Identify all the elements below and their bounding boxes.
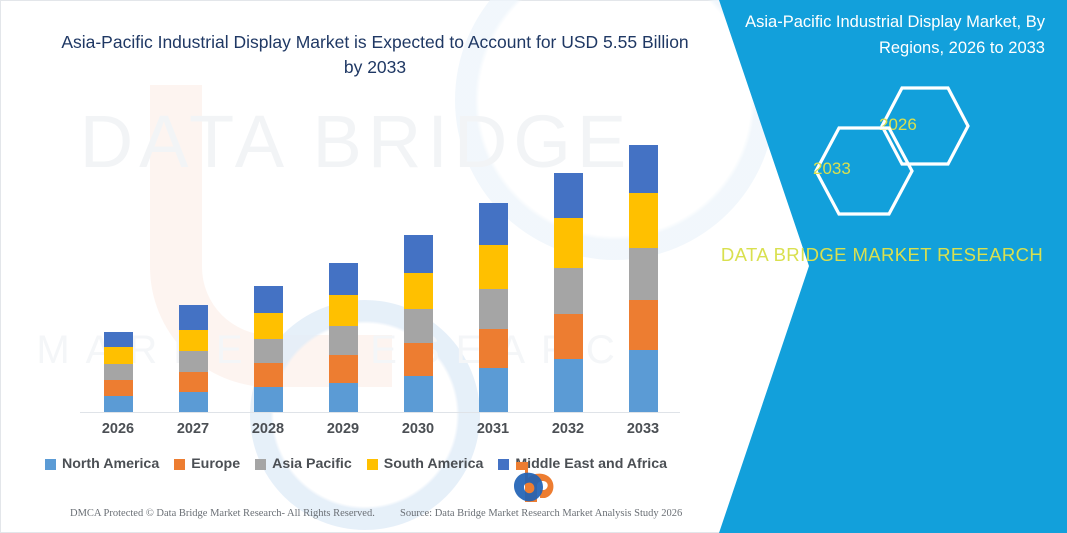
bar-segment <box>329 383 358 412</box>
x-tick-2032: 2032 <box>538 421 598 437</box>
bar-segment <box>329 326 358 355</box>
logo-sub-text: MARKET RESEARCH <box>572 490 696 497</box>
footer: DMCA Protected © Data Bridge Market Rese… <box>0 508 712 528</box>
chart-baseline <box>80 412 680 413</box>
bar-segment <box>104 380 133 396</box>
bar-segment <box>179 351 208 372</box>
bar-segment <box>404 376 433 412</box>
hexagon-group: 2026 2033 <box>697 85 1067 205</box>
bar-segment <box>404 273 433 309</box>
bar-segment <box>404 235 433 273</box>
bar-2030 <box>404 235 433 412</box>
x-tick-2030: 2030 <box>388 421 448 437</box>
bar-2028 <box>254 286 283 412</box>
bar-segment <box>479 329 508 368</box>
infographic-canvas: DATA BRIDGE MARKET RESEARCH Asia-Pacific… <box>0 0 1067 533</box>
legend-item-south-america[interactable]: South America <box>367 456 484 472</box>
bar-segment <box>554 314 583 359</box>
legend-label: South America <box>384 456 484 472</box>
bar-segment <box>329 263 358 295</box>
bar-segment <box>104 364 133 380</box>
bar-segment <box>554 359 583 412</box>
x-tick-2031: 2031 <box>463 421 523 437</box>
legend-item-north-america[interactable]: North America <box>45 456 159 472</box>
bar-segment <box>104 396 133 412</box>
bar-segment <box>554 268 583 314</box>
panel-title: Asia-Pacific Industrial Display Market, … <box>725 10 1045 61</box>
bar-2031 <box>479 203 508 412</box>
x-tick-2028: 2028 <box>238 421 298 437</box>
legend-swatch-icon <box>367 459 378 470</box>
bar-segment <box>179 392 208 412</box>
bar-segment <box>329 295 358 326</box>
bar-segment <box>629 350 658 412</box>
legend-swatch-icon <box>45 459 56 470</box>
bar-segment <box>104 347 133 364</box>
bar-segment <box>254 363 283 387</box>
legend-label: Asia Pacific <box>272 456 352 472</box>
logo-mark-icon <box>510 458 568 508</box>
bar-segment <box>554 173 583 218</box>
bar-2033 <box>629 145 658 412</box>
right-panel: Asia-Pacific Industrial Display Market, … <box>697 0 1067 533</box>
bar-segment <box>554 218 583 268</box>
bar-segment <box>329 355 358 383</box>
x-tick-2027: 2027 <box>163 421 223 437</box>
legend-swatch-icon <box>498 459 509 470</box>
bar-2032 <box>554 173 583 412</box>
bar-segment <box>179 372 208 392</box>
chart-x-axis: 20262027202820292030203120322033 <box>80 421 680 443</box>
x-tick-2029: 2029 <box>313 421 373 437</box>
bar-segment <box>179 305 208 330</box>
x-tick-2026: 2026 <box>88 421 148 437</box>
bar-segment <box>479 289 508 329</box>
legend-item-asia-pacific[interactable]: Asia Pacific <box>255 456 352 472</box>
bar-segment <box>629 145 658 193</box>
legend-item-europe[interactable]: Europe <box>174 456 240 472</box>
bar-segment <box>179 330 208 351</box>
bar-segment <box>479 245 508 289</box>
legend-label: North America <box>62 456 159 472</box>
bar-2026 <box>104 332 133 412</box>
bar-segment <box>629 300 658 350</box>
bar-segment <box>479 203 508 245</box>
chart-title: Asia-Pacific Industrial Display Market i… <box>60 30 690 81</box>
bar-segment <box>254 339 283 363</box>
bar-segment <box>479 368 508 412</box>
legend-swatch-icon <box>255 459 266 470</box>
bar-segment <box>254 313 283 339</box>
chart-plot-area <box>80 120 680 413</box>
bar-segment <box>254 286 283 313</box>
bar-2029 <box>329 263 358 412</box>
bar-segment <box>104 332 133 347</box>
logo-main-text: DATA BRIDGE <box>572 464 696 487</box>
legend-swatch-icon <box>174 459 185 470</box>
bar-segment <box>254 387 283 412</box>
legend-label: Europe <box>191 456 240 472</box>
company-logo: DATA BRIDGE MARKET RESEARCH <box>510 458 700 510</box>
bar-segment <box>404 343 433 376</box>
footer-copyright: DMCA Protected © Data Bridge Market Rese… <box>70 508 375 519</box>
x-tick-2033: 2033 <box>613 421 673 437</box>
logo-text-block: DATA BRIDGE MARKET RESEARCH <box>572 464 696 497</box>
bar-segment <box>404 309 433 343</box>
bar-2027 <box>179 305 208 412</box>
panel-brand-name: DATA BRIDGE MARKET RESEARCH <box>697 240 1067 270</box>
bar-segment <box>629 193 658 248</box>
bar-segment <box>629 248 658 300</box>
